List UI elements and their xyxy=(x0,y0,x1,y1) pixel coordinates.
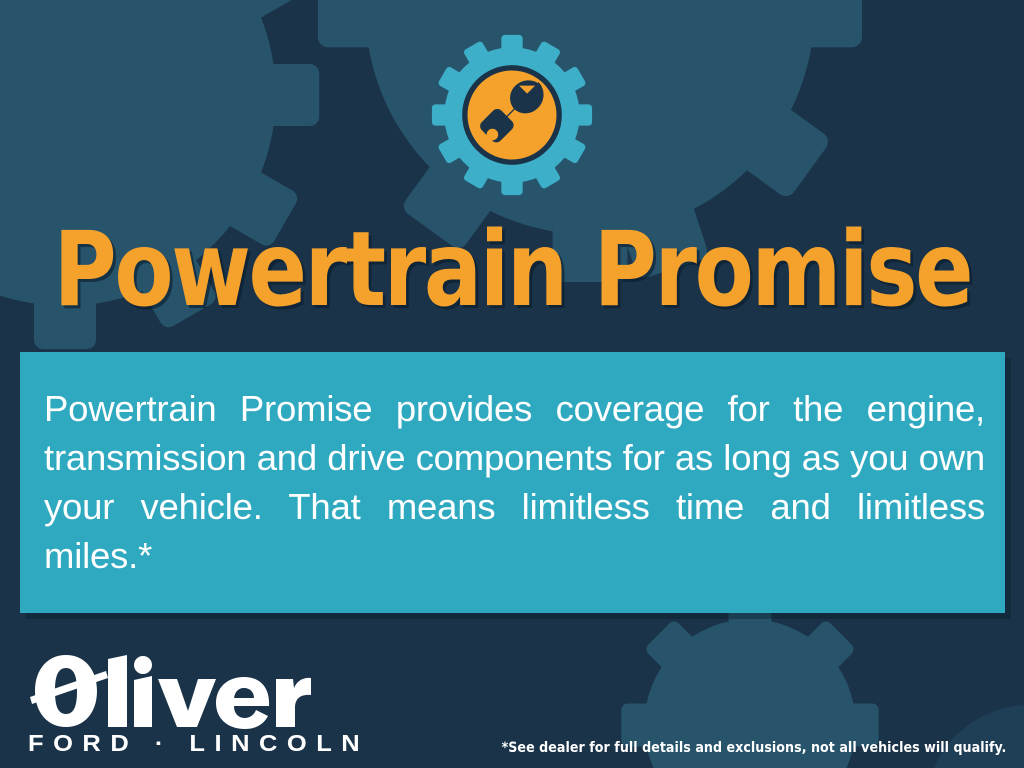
page-title: Powertrain Promise xyxy=(0,210,1024,330)
description-panel: Powertrain Promise provides coverage for… xyxy=(20,352,1005,613)
page-title-text: Powertrain Promise xyxy=(53,210,971,330)
dealer-logo-subtitle: FORD · LINCOLN xyxy=(28,731,328,758)
disclaimer-text: *See dealer for full details and exclusi… xyxy=(501,740,1006,756)
oliver-hat-logo-icon xyxy=(28,649,320,733)
background-gear-large-left-icon xyxy=(0,0,375,405)
gear-wrench-icon xyxy=(423,26,601,204)
powertrain-promise-poster: Powertrain Promise Powertrain Promise pr… xyxy=(0,0,1024,768)
description-text: Powertrain Promise provides coverage for… xyxy=(44,384,985,629)
oliver-wordmark xyxy=(28,649,320,733)
dealer-logo: FORD · LINCOLN xyxy=(28,649,328,760)
